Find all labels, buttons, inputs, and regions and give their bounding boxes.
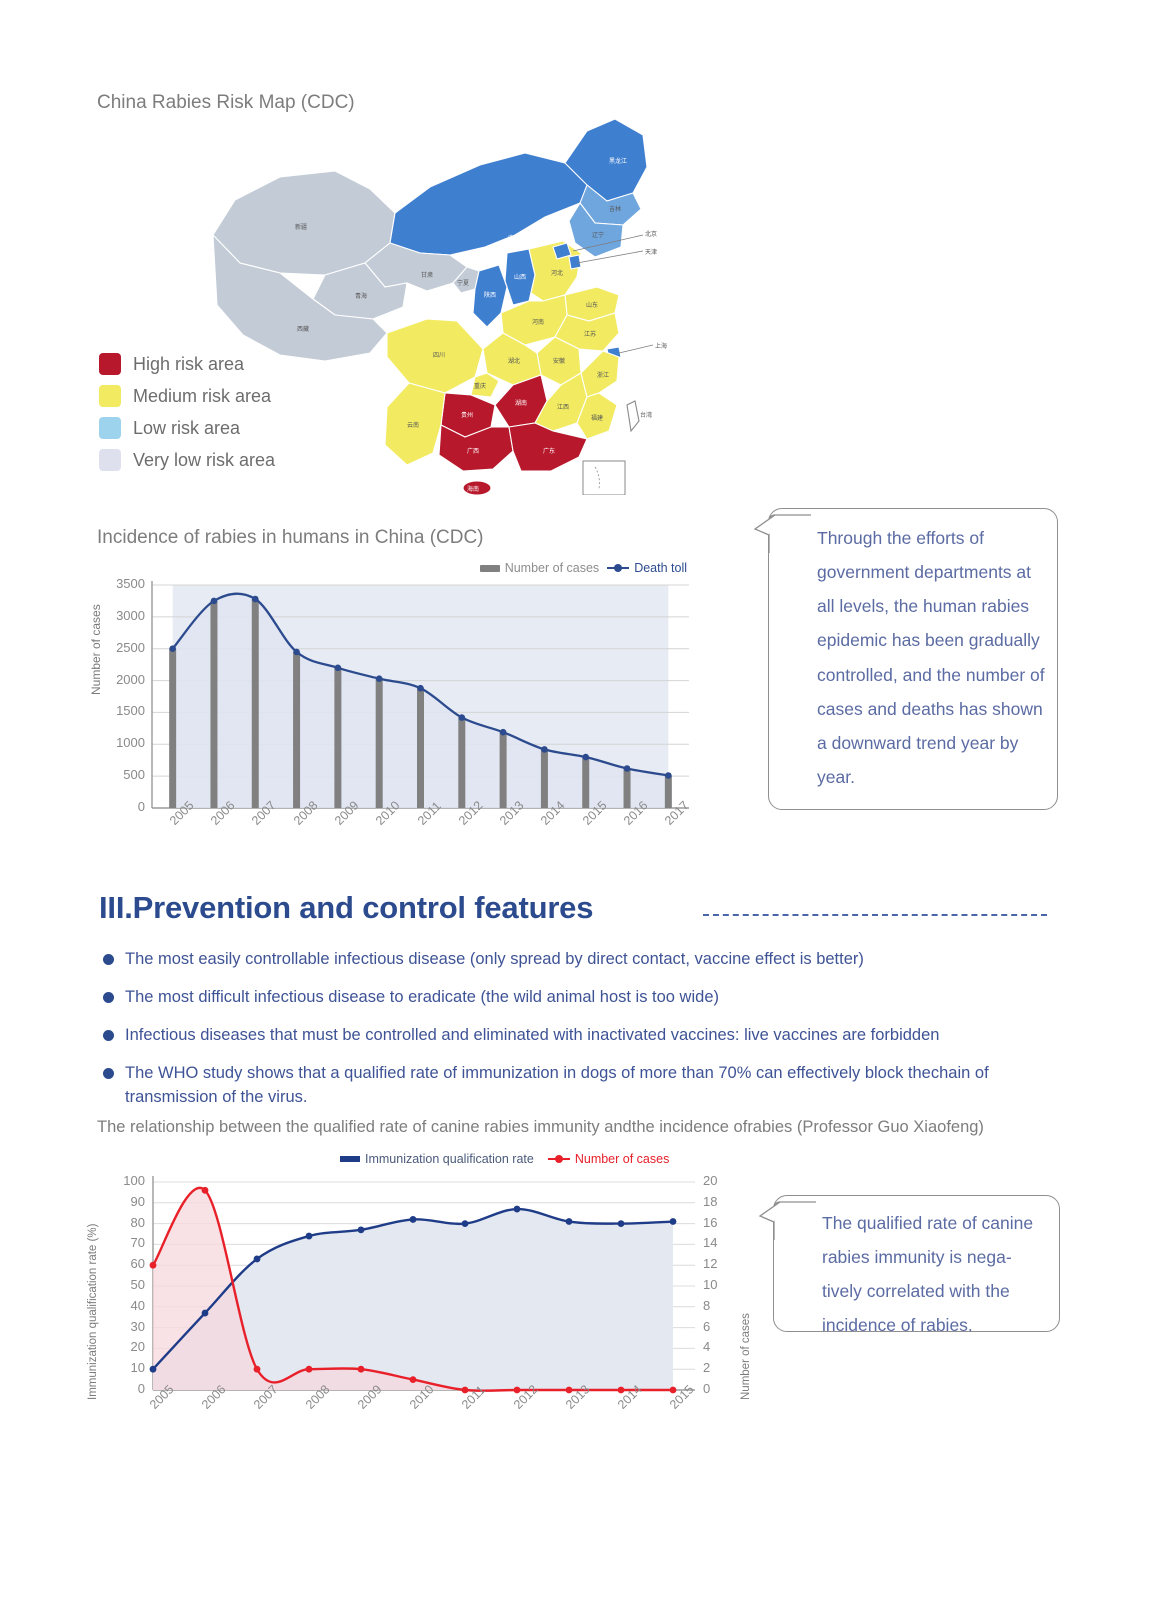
chart2-title: The relationship between the qualified r… — [97, 1118, 984, 1137]
chart2-y2-tick: 4 — [703, 1339, 735, 1354]
province-label-qinghai: 青海 — [355, 292, 367, 300]
province-label-jiangsu: 江苏 — [584, 330, 596, 338]
province-label-guizhou: 贵州 — [461, 411, 473, 419]
chart2-y-tick: 50 — [113, 1277, 145, 1292]
province-label-henan: 河南 — [532, 318, 544, 326]
chart2-y2-tick: 10 — [703, 1277, 735, 1292]
province-label-liaoning: 辽宁 — [592, 231, 604, 239]
legend-item-medium-risk: Medium risk area — [99, 380, 275, 412]
province-label-fujian: 福建 — [591, 414, 603, 422]
legend-item-high-risk: High risk area — [99, 348, 275, 380]
province-label-jilin: 吉林 — [609, 205, 621, 213]
list-item: Infectious diseases that must be control… — [103, 1024, 1083, 1048]
chart1-y-tick: 0 — [105, 799, 145, 814]
chart1-legend-death: Death toll — [607, 561, 687, 575]
chart2-y-tick: 30 — [113, 1319, 145, 1334]
callout2-tail-icon — [758, 1200, 818, 1244]
infographic-page: China Rabies Risk Map (CDC) .pv{stroke:#… — [0, 0, 1149, 1600]
province-label-hubei: 湖北 — [508, 357, 520, 365]
list-item: The most easily controllable infectious … — [103, 948, 1083, 972]
human-rabies-incidence-chart: Number of cases Death toll Number of cas… — [97, 555, 697, 845]
chart1-y-tick: 3000 — [105, 608, 145, 623]
province-label-sichuan: 四川 — [433, 352, 445, 359]
province-label-chongqing: 重庆 — [474, 382, 486, 390]
chart2-y2-axis-label: Number of cases — [740, 1313, 752, 1400]
chart1-y-tick: 2500 — [105, 640, 145, 655]
bullet-text: The WHO study shows that a qualified rat… — [125, 1062, 1083, 1110]
chart2-y-tick: 60 — [113, 1256, 145, 1271]
list-item: The WHO study shows that a qualified rat… — [103, 1062, 1083, 1110]
chart1-legend: Number of cases Death toll — [480, 561, 687, 575]
section3-bullet-list: The most easily controllable infectious … — [103, 948, 1083, 1124]
province-label-xinjiang: 新疆 — [295, 223, 307, 231]
legend-item-very-low-risk: Very low risk area — [99, 444, 275, 476]
province-label-tianjin: 天津 — [645, 249, 657, 256]
chart2-legend: Immunization qualification rate Number o… — [340, 1152, 669, 1166]
chart2-y2-tick: 8 — [703, 1298, 735, 1313]
chart2-legend-label-cases: Number of cases — [575, 1152, 669, 1166]
legend-swatch-high-risk — [99, 353, 121, 375]
chart2-y-tick: 70 — [113, 1235, 145, 1250]
legend-label-very-low-risk: Very low risk area — [133, 450, 275, 471]
province-label-anhui: 安徽 — [553, 357, 565, 365]
chart2-y-tick: 40 — [113, 1298, 145, 1313]
chart2-y-tick: 90 — [113, 1194, 145, 1209]
chart2-y2-tick: 14 — [703, 1235, 735, 1250]
province-label-beijing: 北京 — [645, 230, 657, 238]
legend-swatch-very-low-risk — [99, 449, 121, 471]
bullet-dot-icon — [103, 1030, 114, 1041]
chart2-legend-label-immunization: Immunization qualification rate — [365, 1152, 534, 1166]
callout-bubble-epidemic-controlled: Through the efforts of government depart… — [768, 508, 1058, 810]
province-label-shaanxi: 陕西 — [484, 291, 496, 299]
callout-bubble-negative-correlation: The qualified rate of canine rabies immu… — [773, 1195, 1060, 1332]
province-label-tibet: 西藏 — [297, 325, 309, 333]
immunity-vs-incidence-chart: Immunization qualification rate Number o… — [85, 1150, 765, 1450]
line-marker-icon — [548, 1158, 570, 1160]
line-marker-icon — [607, 567, 629, 569]
bullet-dot-icon — [103, 992, 114, 1003]
province-label-inner-mongolia: 内蒙古 — [508, 234, 526, 242]
chart2-y2-tick: 6 — [703, 1319, 735, 1334]
chart2-y-tick: 10 — [113, 1360, 145, 1375]
chart2-plot — [85, 1150, 765, 1450]
bullet-text: Infectious diseases that must be control… — [125, 1024, 939, 1048]
bullet-text: The most difficult infectious disease to… — [125, 986, 719, 1010]
chart1-y-axis-label: Number of cases — [89, 604, 103, 695]
chart1-legend-label-cases: Number of cases — [505, 561, 599, 575]
bullet-text: The most easily controllable infectious … — [125, 948, 864, 972]
province-label-taiwan: 台湾 — [640, 411, 652, 419]
chart1-y-tick: 2000 — [105, 672, 145, 687]
callout1-text: Through the efforts of government depart… — [817, 521, 1045, 794]
chart2-y2-tick: 20 — [703, 1173, 735, 1188]
province-label-shanxi: 山西 — [514, 273, 526, 281]
list-item: The most difficult infectious disease to… — [103, 986, 1083, 1010]
chart2-y2-tick: 12 — [703, 1256, 735, 1271]
province-label-guangxi: 广西 — [467, 447, 479, 455]
bar-swatch-icon — [340, 1156, 360, 1162]
chart2-y2-tick: 16 — [703, 1215, 735, 1230]
chart2-y2-tick: 18 — [703, 1194, 735, 1209]
province-label-zhejiang: 浙江 — [597, 371, 609, 379]
chart1-y-tick: 1500 — [105, 703, 145, 718]
section3-dashed-rule — [703, 914, 1047, 916]
callout1-tail-icon — [753, 513, 813, 557]
province-label-shanghai: 上海 — [655, 342, 667, 350]
chart2-y-axis-label: Immunization qualification rate (%) — [87, 1224, 99, 1400]
province-label-heilongjiang: 黑龙江 — [609, 157, 627, 165]
chart2-y-tick: 0 — [113, 1381, 145, 1396]
legend-label-high-risk: High risk area — [133, 354, 244, 375]
legend-swatch-low-risk — [99, 417, 121, 439]
legend-label-low-risk: Low risk area — [133, 418, 240, 439]
chart2-y2-tick: 2 — [703, 1360, 735, 1375]
province-label-gansu: 甘肃 — [421, 271, 433, 279]
map-legend: High risk area Medium risk area Low risk… — [99, 348, 275, 476]
china-rabies-risk-map-section: China Rabies Risk Map (CDC) .pv{stroke:#… — [0, 0, 1149, 500]
legend-swatch-medium-risk — [99, 385, 121, 407]
chart2-y-tick: 80 — [113, 1215, 145, 1230]
chart1-y-tick: 3500 — [105, 576, 145, 591]
chart2-legend-cases: Number of cases — [548, 1152, 669, 1166]
section3-heading: III.Prevention and control features — [99, 890, 593, 926]
province-label-hebei: 河北 — [551, 269, 563, 277]
chart2-y-tick: 20 — [113, 1339, 145, 1354]
bullet-dot-icon — [103, 1068, 114, 1079]
chart1-y-tick: 1000 — [105, 735, 145, 750]
legend-label-medium-risk: Medium risk area — [133, 386, 271, 407]
province-label-ningxia: 宁夏 — [457, 279, 469, 287]
province-label-jiangxi: 江西 — [557, 404, 569, 411]
chart1-y-tick: 500 — [105, 767, 145, 782]
province-label-yunnan: 云南 — [407, 421, 419, 429]
province-label-hainan: 海南 — [467, 485, 479, 493]
callout2-text: The qualified rate of canine rabies immu… — [822, 1206, 1048, 1343]
chart2-y-tick: 100 — [113, 1173, 145, 1188]
province-label-hunan: 湖南 — [515, 399, 527, 407]
bullet-dot-icon — [103, 954, 114, 965]
legend-item-low-risk: Low risk area — [99, 412, 275, 444]
chart1-legend-cases: Number of cases — [480, 561, 599, 575]
chart2-y2-tick: 0 — [703, 1381, 735, 1396]
chart2-legend-immunization: Immunization qualification rate — [340, 1152, 534, 1166]
bar-swatch-icon — [480, 565, 500, 572]
province-label-guangdong: 广东 — [543, 447, 555, 455]
province-label-shandong: 山东 — [586, 301, 598, 309]
chart1-title: Incidence of rabies in humans in China (… — [97, 527, 484, 549]
chart1-legend-label-death: Death toll — [634, 561, 687, 575]
